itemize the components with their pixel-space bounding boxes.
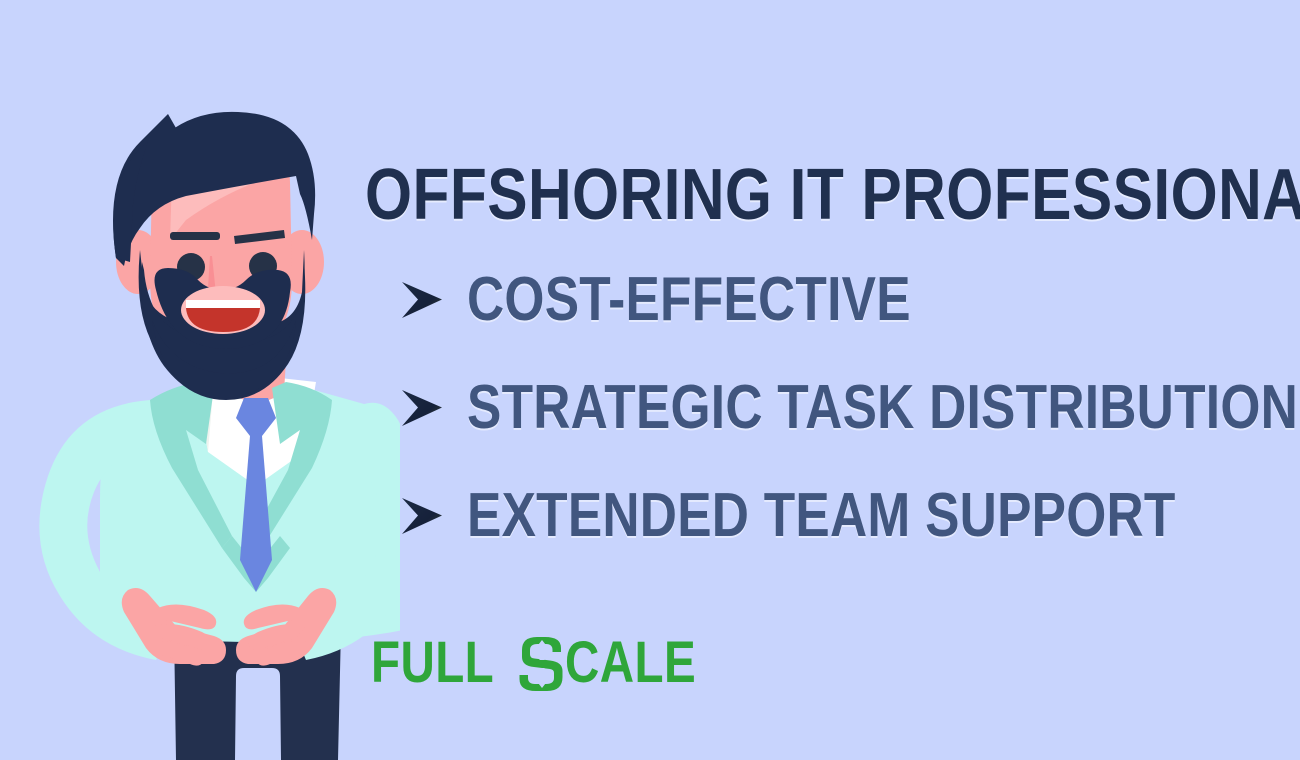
character-hair-icon <box>113 112 315 266</box>
list-item[interactable]: STRATEGIC TASK DISTRIBUTION <box>363 354 1293 462</box>
character-teeth-icon <box>186 300 260 308</box>
list-item-label: COST-EFFECTIVE <box>467 269 911 331</box>
character-tie-icon <box>240 436 272 592</box>
character-moustache-icon <box>155 268 291 349</box>
character-left-eye-icon <box>177 253 205 281</box>
character-left-hand-icon <box>122 588 226 666</box>
character-tie-knot-icon <box>236 398 276 436</box>
character-left-ear-icon <box>116 230 160 294</box>
character-tongue-icon <box>186 308 260 332</box>
character-left-arm-icon <box>39 400 176 660</box>
character-hair-side-icon <box>113 142 148 262</box>
benefits-list: COST-EFFECTIVE STRATEGIC TASK DISTRIBUTI… <box>363 246 1293 570</box>
character-left-lapel-icon <box>150 382 232 548</box>
full-scale-logo[interactable]: FULL CALE <box>371 632 725 694</box>
character-nose-icon <box>198 256 216 304</box>
character-beard-lower-icon <box>141 262 305 400</box>
character-collar-shade-icon <box>196 380 214 452</box>
character-chin-beard-icon <box>152 320 296 399</box>
character-right-ear-icon <box>280 230 324 294</box>
list-item-label: EXTENDED TEAM SUPPORT <box>467 485 1176 547</box>
list-item-label: STRATEGIC TASK DISTRIBUTION <box>467 377 1298 439</box>
character-neck-icon <box>226 360 286 402</box>
character-shirt-collar-icon <box>196 378 316 486</box>
page-title: OFFSHORING IT PROFESSIONALS <box>365 156 1121 234</box>
logo-word-full: FULL <box>371 634 494 692</box>
arrowhead-bullet-icon <box>399 277 445 323</box>
arrowhead-bullet-icon <box>399 385 445 431</box>
logo-word-scale: CALE <box>565 634 696 692</box>
character-jacket-icon <box>100 386 400 642</box>
character-face-icon <box>150 126 292 358</box>
character-right-eye-icon <box>249 252 277 280</box>
character-face-highlight-icon <box>170 140 286 240</box>
character-left-eyebrow-icon <box>170 232 220 240</box>
character-lapel-point-icon <box>222 536 290 592</box>
character-right-eyebrow-icon <box>234 230 285 244</box>
infographic-canvas: OFFSHORING IT PROFESSIONALS COST-EFFECTI… <box>0 0 1300 760</box>
character-lips-icon <box>181 286 265 334</box>
character-beard-icon <box>139 250 305 390</box>
list-item[interactable]: COST-EFFECTIVE <box>363 246 1293 354</box>
list-item[interactable]: EXTENDED TEAM SUPPORT <box>363 462 1293 570</box>
character-right-hand-icon <box>236 588 336 666</box>
content-column: OFFSHORING IT PROFESSIONALS COST-EFFECTI… <box>363 0 1293 760</box>
bearded-it-professional-character <box>0 0 400 760</box>
character-right-lapel-icon <box>252 382 332 548</box>
full-scale-s-arrow-logomark <box>519 634 565 692</box>
arrowhead-bullet-icon <box>399 493 445 539</box>
character-pants-icon <box>174 622 341 760</box>
